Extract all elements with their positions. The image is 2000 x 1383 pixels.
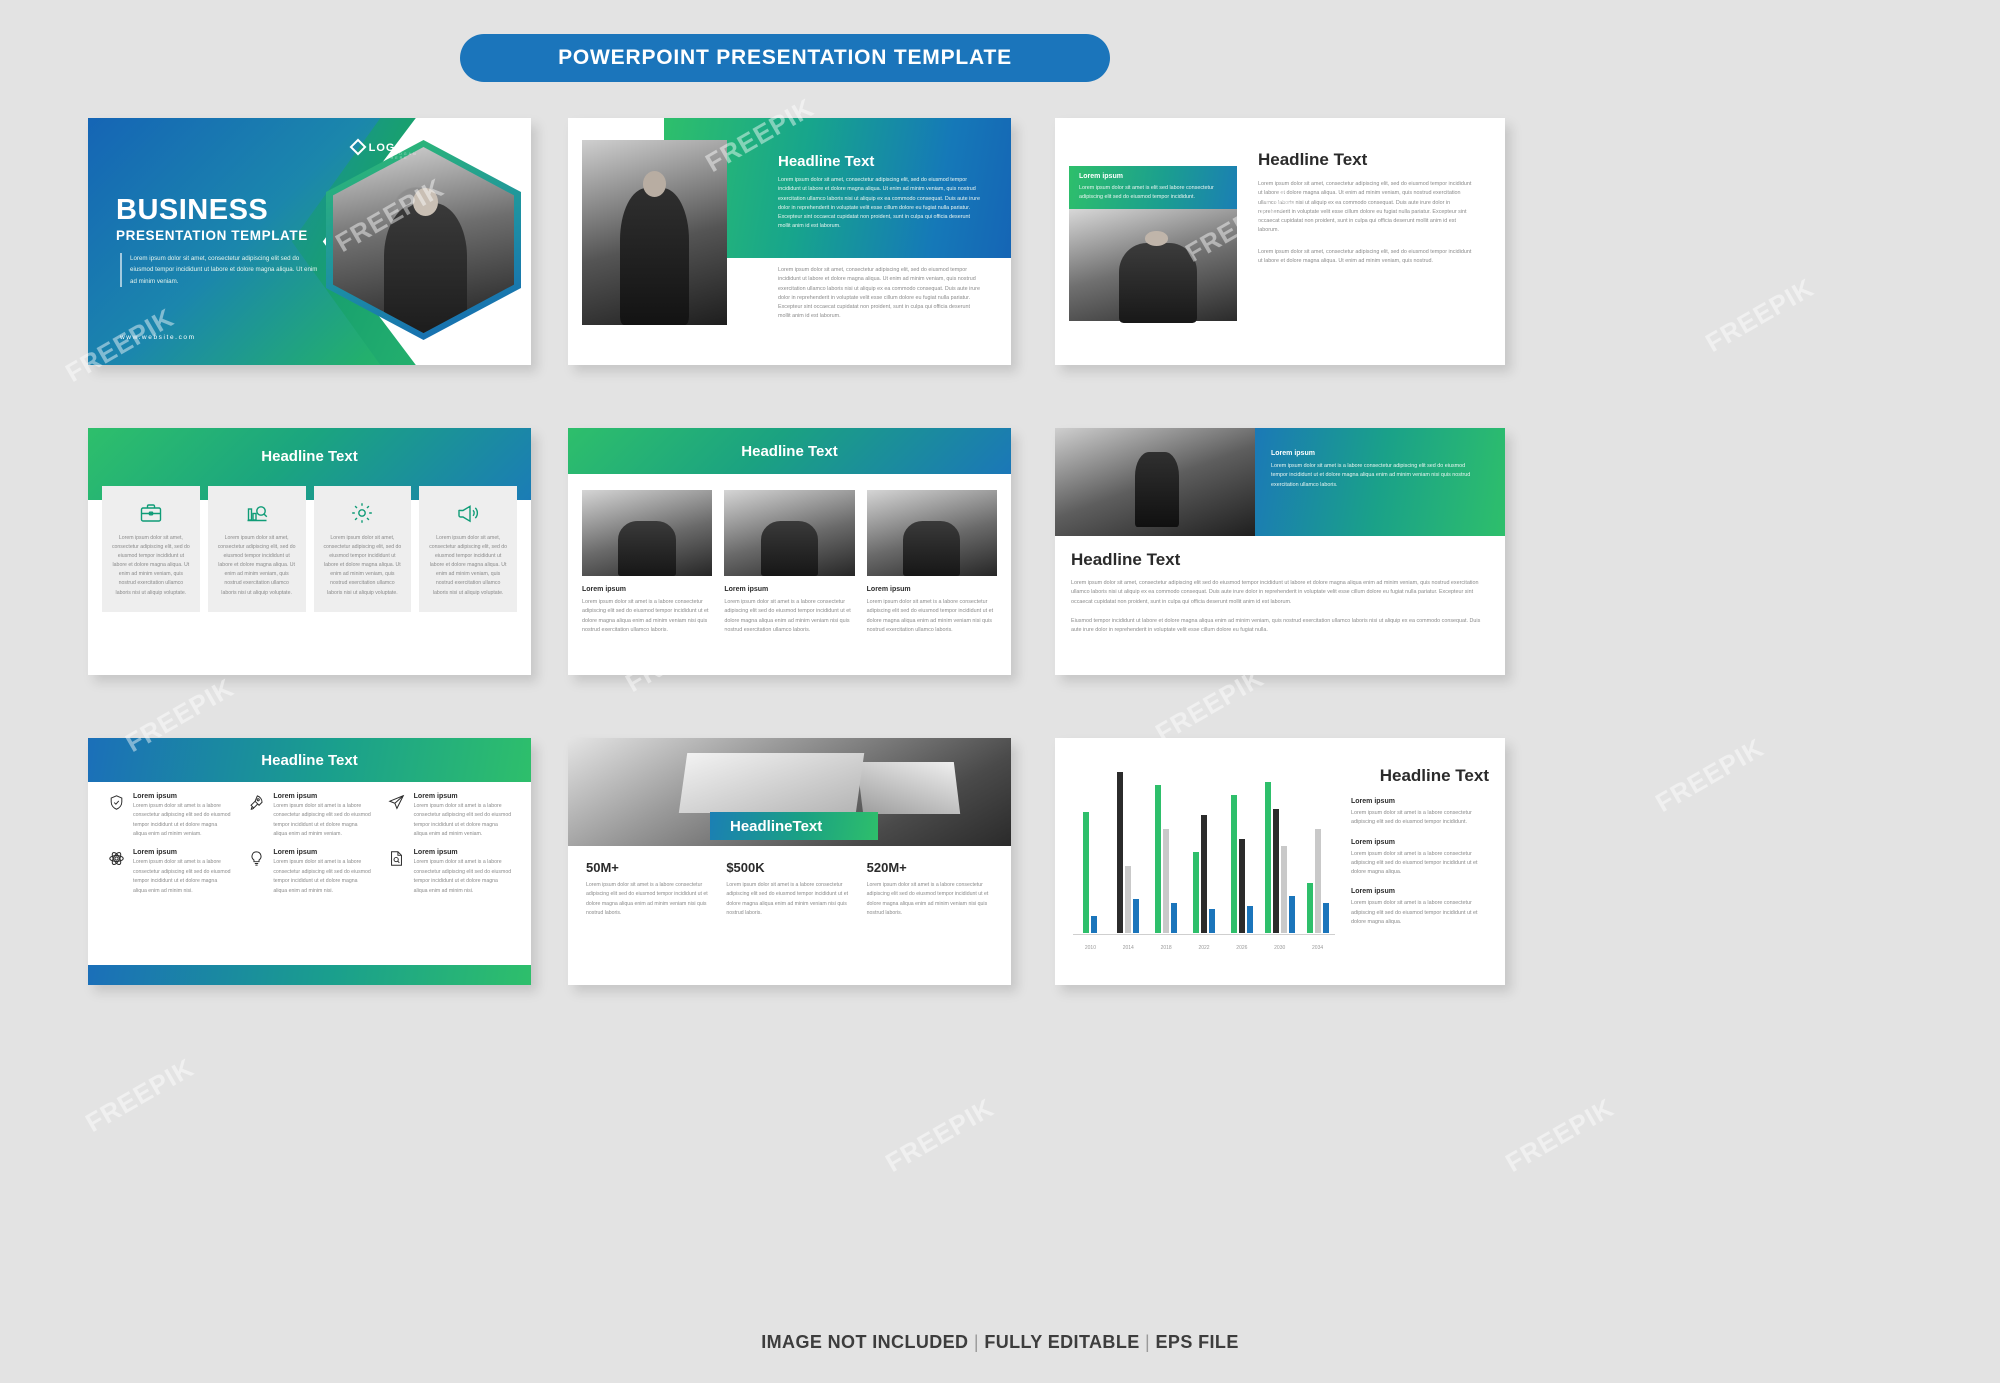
slide-4-icon-cards[interactable]: Headline Text Lorem ipsum dolor sit amet… — [88, 428, 531, 675]
slide-6-paragraph-2: Eiusmod tempor incididunt ut labore et d… — [1071, 617, 1489, 636]
feature-card[interactable]: Lorem ipsum dolor sit amet, consectetur … — [419, 486, 517, 612]
slide-6-paragraph-1: Lorem ipsum dolor sit amet, consectetur … — [1071, 579, 1489, 607]
slide-3-paragraph-2: Lorem ipsum dolor sit amet, consectetur … — [1258, 248, 1473, 267]
slide-1-subtitle: PRESENTATION TEMPLATE — [116, 228, 308, 243]
photo-column-title: Lorem ipsum — [867, 586, 997, 593]
slide-6-gradient-card: Lorem ipsum Lorem ipsum dolor sit amet i… — [1255, 428, 1505, 536]
shield-icon — [106, 793, 126, 839]
slide-3-photo-placeholder — [1069, 209, 1237, 321]
list-item-text: Lorem ipsum dolor sit amet is a labore c… — [273, 858, 372, 895]
bar-group — [1073, 765, 1108, 933]
list-item-text: Lorem ipsum dolor sit amet is a labore c… — [414, 802, 513, 839]
slide-7-item-grid: Lorem ipsum Lorem ipsum dolor sit amet i… — [106, 793, 513, 896]
list-item-title: Lorem ipsum — [273, 849, 372, 856]
footer-separator-2: | — [1145, 1332, 1150, 1352]
list-item[interactable]: Lorem ipsum Lorem ipsum dolor sit amet i… — [387, 849, 513, 895]
bar — [1289, 896, 1295, 933]
slide-1-hex-photo — [326, 140, 521, 340]
x-tick-label: 2034 — [1300, 945, 1335, 951]
list-item[interactable]: Lorem ipsum Lorem ipsum dolor sit amet i… — [106, 849, 232, 895]
slide-4-headline: Headline Text — [261, 448, 357, 465]
slide-7-icon-list[interactable]: Headline Text Lorem ipsum Lorem ipsum do… — [88, 738, 531, 985]
gear-icon — [323, 498, 403, 528]
bar — [1239, 839, 1245, 933]
bar — [1171, 903, 1177, 933]
list-item[interactable]: Lorem ipsum Lorem ipsum dolor sit amet i… — [246, 849, 372, 895]
bar — [1155, 785, 1161, 933]
text-block-title: Lorem ipsum — [1351, 839, 1489, 846]
x-tick-label: 2014 — [1111, 945, 1146, 951]
bar — [1201, 815, 1207, 933]
stat-number: $500K — [726, 860, 852, 875]
bar-chart: 2010201420182022202620302034 — [1073, 760, 1335, 955]
list-item[interactable]: Lorem ipsum Lorem ipsum dolor sit amet i… — [106, 793, 232, 839]
slide-9-text-column: Headline Text Lorem ipsum Lorem ipsum do… — [1351, 766, 1489, 938]
text-block-text: Lorem ipsum dolor sit amet is a labore c… — [1351, 809, 1489, 828]
list-item-title: Lorem ipsum — [414, 849, 513, 856]
stat-item: 50M+ Lorem ipsum dolor sit amet is a lab… — [586, 860, 712, 918]
stat-number: 520M+ — [867, 860, 993, 875]
bar — [1273, 809, 1279, 933]
bar — [1281, 846, 1287, 933]
slide-5-gradient-band: Headline Text — [568, 428, 1011, 474]
rocket-icon — [246, 793, 266, 839]
slide-1-cover[interactable]: LOGO SLOGAN HERE BUSINESS PRESENTATION T… — [88, 118, 531, 365]
bar-group — [1224, 765, 1259, 933]
text-block-title: Lorem ipsum — [1351, 798, 1489, 805]
chart-search-icon — [217, 498, 297, 528]
bar-chart-axis-line — [1073, 934, 1335, 935]
watermark: FREEPIK — [1150, 662, 1269, 749]
feature-card[interactable]: Lorem ipsum dolor sit amet, consectetur … — [314, 486, 412, 612]
page-title: POWERPOINT PRESENTATION TEMPLATE — [558, 46, 1012, 70]
slide-2-headline: Headline Text — [778, 153, 874, 170]
slide-4-card-list: Lorem ipsum dolor sit amet, consectetur … — [102, 486, 517, 612]
slide-3-text-column: Headline Text Lorem ipsum dolor sit amet… — [1258, 150, 1473, 266]
list-item-text: Lorem ipsum dolor sit amet is a labore c… — [414, 858, 513, 895]
slide-7-gradient-footer — [88, 965, 531, 985]
slide-9-headline: Headline Text — [1351, 766, 1489, 786]
footer-note: IMAGE NOT INCLUDED | FULLY EDITABLE | EP… — [0, 1332, 2000, 1353]
stat-number: 50M+ — [586, 860, 712, 875]
bar-chart-x-tick-labels: 2010201420182022202620302034 — [1073, 945, 1335, 951]
bar — [1133, 899, 1139, 933]
bar — [1091, 916, 1097, 933]
footer-part-2: FULLY EDITABLE — [984, 1332, 1139, 1352]
bar — [1083, 812, 1089, 933]
text-block-title: Lorem ipsum — [1351, 888, 1489, 895]
feature-card-text: Lorem ipsum dolor sit amet, consectetur … — [111, 534, 191, 598]
feature-card[interactable]: Lorem ipsum dolor sit amet, consectetur … — [102, 486, 200, 612]
slide-2-paragraph-2: Lorem ipsum dolor sit amet, consectetur … — [778, 266, 983, 322]
slide-2-photo-text[interactable]: Headline Text Lorem ipsum dolor sit amet… — [568, 118, 1011, 365]
slide-1-title: BUSINESS — [116, 196, 268, 225]
bar — [1209, 909, 1215, 933]
x-tick-label: 2010 — [1073, 945, 1108, 951]
watermark: FREEPIK — [1500, 1092, 1619, 1179]
slide-6-hero-text[interactable]: Lorem ipsum Lorem ipsum dolor sit amet i… — [1055, 428, 1505, 675]
slide-1-website-url[interactable]: www.website.com — [120, 334, 196, 341]
page-title-banner: POWERPOINT PRESENTATION TEMPLATE — [460, 34, 1110, 82]
bar — [1265, 782, 1271, 933]
bar — [1307, 883, 1313, 933]
logo[interactable]: LOGO SLOGAN HERE — [352, 138, 405, 156]
list-item-text: Lorem ipsum dolor sit amet is a labore c… — [273, 802, 372, 839]
slide-3-headline: Headline Text — [1258, 150, 1473, 170]
slide-6-card-text: Lorem ipsum dolor sit amet is a labore c… — [1271, 462, 1476, 490]
megaphone-icon — [428, 498, 508, 528]
footer-part-3: EPS FILE — [1156, 1332, 1239, 1352]
slide-3-card-text: Lorem ipsum dolor sit amet is elit sed l… — [1079, 184, 1227, 203]
slide-3-card-title: Lorem ipsum — [1079, 173, 1227, 180]
slide-8-headline-tag: HeadlineText — [710, 812, 878, 840]
slide-6-card-title: Lorem ipsum — [1271, 450, 1489, 457]
slide-7-headline: Headline Text — [261, 752, 357, 769]
slide-7-gradient-band: Headline Text — [88, 738, 531, 782]
slide-8-stat-list: 50M+ Lorem ipsum dolor sit amet is a lab… — [586, 860, 993, 918]
photo-placeholder — [582, 490, 712, 576]
slide-8-stats[interactable]: HeadlineText 50M+ Lorem ipsum dolor sit … — [568, 738, 1011, 985]
feature-card[interactable]: Lorem ipsum dolor sit amet, consectetur … — [208, 486, 306, 612]
photo-column-title: Lorem ipsum — [724, 586, 854, 593]
photo-column[interactable]: Lorem ipsum Lorem ipsum dolor sit amet i… — [724, 490, 854, 635]
text-block-text: Lorem ipsum dolor sit amet is a labore c… — [1351, 850, 1489, 878]
slide-2-photo-placeholder — [582, 140, 727, 325]
list-item-title: Lorem ipsum — [273, 793, 372, 800]
feature-card-text: Lorem ipsum dolor sit amet, consectetur … — [323, 534, 403, 598]
slide-6-photo-placeholder — [1055, 428, 1255, 536]
text-block: Lorem ipsum Lorem ipsum dolor sit amet i… — [1351, 888, 1489, 927]
stat-text: Lorem ipsum dolor sit amet is a labore c… — [726, 881, 852, 918]
x-tick-label: 2026 — [1224, 945, 1259, 951]
photo-column-text: Lorem ipsum dolor sit amet is a labore c… — [724, 598, 854, 635]
slide-5-headline: Headline Text — [741, 443, 837, 460]
logo-slogan: SLOGAN HERE — [391, 152, 418, 160]
list-item-text: Lorem ipsum dolor sit amet is a labore c… — [133, 858, 232, 895]
slide-5-column-list: Lorem ipsum Lorem ipsum dolor sit amet i… — [582, 490, 997, 635]
bar — [1323, 903, 1329, 933]
bar-chart-plot-area — [1073, 765, 1335, 933]
slide-3-green-card: Lorem ipsum Lorem ipsum dolor sit amet i… — [1069, 166, 1237, 209]
bar-group — [1149, 765, 1184, 933]
list-item-text: Lorem ipsum dolor sit amet is a labore c… — [133, 802, 232, 839]
slide-9-bar-chart[interactable]: 2010201420182022202620302034 Headline Te… — [1055, 738, 1505, 985]
watermark: FREEPIK — [1650, 732, 1769, 819]
document-search-icon — [387, 849, 407, 895]
stat-item: 520M+ Lorem ipsum dolor sit amet is a la… — [867, 860, 993, 918]
slide-2-paragraph-1: Lorem ipsum dolor sit amet, consectetur … — [778, 176, 983, 232]
bar — [1315, 829, 1321, 933]
text-block: Lorem ipsum Lorem ipsum dolor sit amet i… — [1351, 839, 1489, 878]
list-item[interactable]: Lorem ipsum Lorem ipsum dolor sit amet i… — [246, 793, 372, 839]
x-tick-label: 2018 — [1149, 945, 1184, 951]
slide-3-paragraph-1: Lorem ipsum dolor sit amet, consectetur … — [1258, 180, 1473, 236]
bar-group — [1300, 765, 1335, 933]
footer-part-1: IMAGE NOT INCLUDED — [761, 1332, 968, 1352]
list-item-title: Lorem ipsum — [133, 793, 232, 800]
watermark: FREEPIK — [80, 1052, 199, 1139]
slide-3-card-text[interactable]: Lorem ipsum Lorem ipsum dolor sit amet i… — [1055, 118, 1505, 365]
list-item-title: Lorem ipsum — [133, 849, 232, 856]
bar — [1247, 906, 1253, 933]
diamond-logo-icon — [349, 139, 366, 156]
lightbulb-icon — [246, 849, 266, 895]
slide-1-description: Lorem ipsum dolor sit amet, consectetur … — [120, 253, 320, 287]
bar — [1117, 772, 1123, 933]
slide-8-headline: HeadlineText — [730, 818, 822, 835]
bar-group — [1187, 765, 1222, 933]
text-block-text: Lorem ipsum dolor sit amet is a labore c… — [1351, 899, 1489, 927]
stat-item: $500K Lorem ipsum dolor sit amet is a la… — [726, 860, 852, 918]
photo-column[interactable]: Lorem ipsum Lorem ipsum dolor sit amet i… — [867, 490, 997, 635]
x-tick-label: 2030 — [1262, 945, 1297, 951]
bar — [1231, 795, 1237, 933]
briefcase-icon — [111, 498, 191, 528]
photo-column[interactable]: Lorem ipsum Lorem ipsum dolor sit amet i… — [582, 490, 712, 635]
slide-6-body: Headline Text Lorem ipsum dolor sit amet… — [1071, 550, 1489, 635]
watermark: FREEPIK — [1700, 272, 1819, 359]
photo-placeholder — [867, 490, 997, 576]
slide-6-headline: Headline Text — [1071, 550, 1489, 570]
bar — [1125, 866, 1131, 933]
feature-card-text: Lorem ipsum dolor sit amet, consectetur … — [428, 534, 508, 598]
list-item[interactable]: Lorem ipsum Lorem ipsum dolor sit amet i… — [387, 793, 513, 839]
bar — [1163, 829, 1169, 933]
photo-column-text: Lorem ipsum dolor sit amet is a labore c… — [582, 598, 712, 635]
x-tick-label: 2022 — [1187, 945, 1222, 951]
bar — [1193, 852, 1199, 933]
footer-separator-1: | — [974, 1332, 979, 1352]
watermark: FREEPIK — [880, 1092, 999, 1179]
slide-5-three-photos[interactable]: Headline Text Lorem ipsum Lorem ipsum do… — [568, 428, 1011, 675]
list-item-title: Lorem ipsum — [414, 793, 513, 800]
photo-column-text: Lorem ipsum dolor sit amet is a labore c… — [867, 598, 997, 635]
bar-group — [1262, 765, 1297, 933]
stat-text: Lorem ipsum dolor sit amet is a labore c… — [867, 881, 993, 918]
feature-card-text: Lorem ipsum dolor sit amet, consectetur … — [217, 534, 297, 598]
text-block: Lorem ipsum Lorem ipsum dolor sit amet i… — [1351, 798, 1489, 828]
photo-column-title: Lorem ipsum — [582, 586, 712, 593]
photo-placeholder — [724, 490, 854, 576]
paper-plane-icon — [387, 793, 407, 839]
atom-icon — [106, 849, 126, 895]
bar-group — [1111, 765, 1146, 933]
stat-text: Lorem ipsum dolor sit amet is a labore c… — [586, 881, 712, 918]
